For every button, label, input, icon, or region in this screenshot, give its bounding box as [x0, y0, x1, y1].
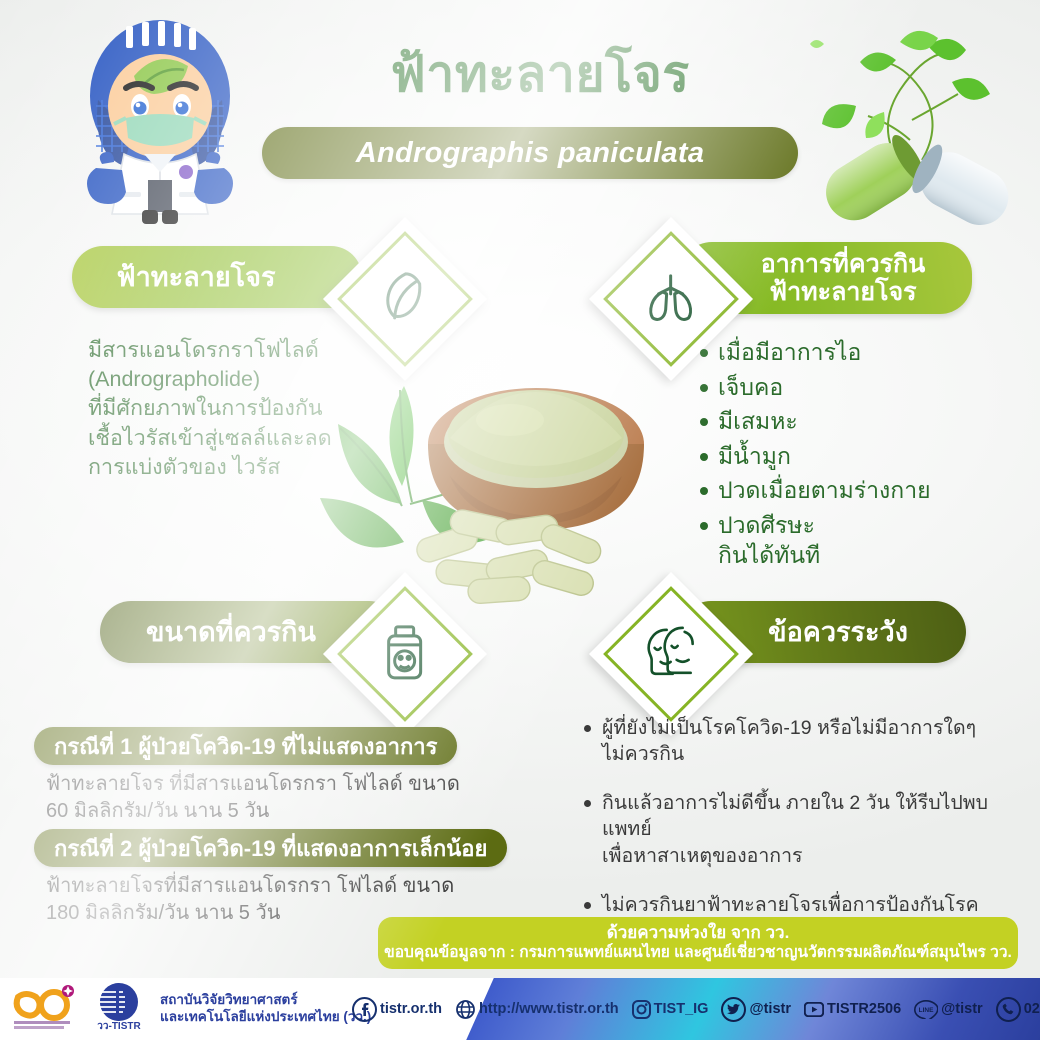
section-header-herb-label: ฟ้าทะลายโจร	[72, 262, 362, 292]
symptoms-list: เมื่อมีอาการไอ เจ็บคอ มีเสมหะ มีน้ำมูก ป…	[700, 337, 1000, 575]
footer-bar: วว-TISTR สถาบันวิจัยวิทยาศาสตร์ และเทคโน…	[0, 978, 1040, 1040]
footer-logos: วว-TISTR สถาบันวิจัยวิทยาศาสตร์ และเทคโน…	[12, 982, 371, 1036]
globe-icon	[455, 999, 476, 1020]
latin-name: Andrographis paniculata	[356, 137, 705, 170]
social-links: tistr.or.th http://www.tistr.or.th	[352, 978, 1040, 1040]
organization-name: สถาบันวิจัยวิทยาศาสตร์ และเทคโนโลยีแห่งป…	[160, 992, 371, 1026]
credit-box: ด้วยความห่วงใย จาก วว. ขอบคุณข้อมูลจาก :…	[378, 917, 1018, 969]
dosage-case-1-pill: กรณีที่ 1 ผู้ป่วยโควิด-19 ที่ไม่แสดงอากา…	[34, 727, 457, 765]
social-label-website: http://www.tistr.or.th	[479, 1001, 619, 1017]
social-link-twitter[interactable]: @tistr	[721, 997, 791, 1022]
dosage-case-2-pill: กรณีที่ 2 ผู้ป่วยโควิด-19 ที่แสดงอาการเล…	[34, 829, 507, 867]
dosage-case-1-description: ฟ้าทะลายโจร ที่มีสารแอนโดรกรา โฟไลด์ ขนา…	[46, 771, 516, 825]
line-icon: LINE	[914, 1000, 938, 1019]
social-label-twitter: @tistr	[749, 1001, 791, 1017]
social-link-website[interactable]: http://www.tistr.or.th	[455, 999, 619, 1020]
list-item: เจ็บคอ	[700, 372, 1000, 403]
social-link-youtube[interactable]: TISTR2506	[804, 1001, 901, 1017]
list-item: มีเสมหะ	[700, 406, 1000, 437]
plant-capsule-illustration	[800, 20, 1028, 230]
list-item: มีน้ำมูก	[700, 441, 1000, 472]
social-link-instagram[interactable]: TIST_IG	[632, 1000, 709, 1019]
mascot-scientist-icon	[62, 14, 258, 229]
page-title: ฟ้าทะลายโจร	[260, 48, 820, 101]
list-item: กินแล้วอาการไม่ดีขึ้น ภายใน 2 วัน ให้รีบ…	[584, 790, 1004, 868]
phone-icon	[996, 997, 1021, 1022]
social-label-instagram: TIST_IG	[654, 1001, 709, 1017]
tistr-logo-text: วว-TISTR	[97, 1021, 141, 1032]
instagram-icon	[632, 1000, 651, 1019]
anniversary-logo	[12, 983, 78, 1036]
social-link-facebook[interactable]: tistr.or.th	[352, 997, 442, 1022]
list-item: ปวดเมื่อยตามร่างกาย	[700, 475, 1000, 506]
latin-name-pill: Andrographis paniculata	[262, 127, 798, 179]
social-label-phone: 02577-9000	[1024, 1001, 1040, 1017]
section-header-herb: ฟ้าทะลายโจร	[72, 246, 362, 308]
social-link-phone[interactable]: 02577-9000	[996, 997, 1040, 1022]
list-item: เมื่อมีอาการไอ	[700, 337, 1000, 368]
tistr-logo: วว-TISTR	[88, 982, 150, 1037]
dosage-case-1-label: กรณีที่ 1 ผู้ป่วยโควิด-19 ที่ไม่แสดงอากา…	[54, 729, 437, 764]
list-item: ผู้ที่ยังไม่เป็นโรคโควิด-19 หรือไม่มีอาก…	[584, 715, 1004, 767]
credit-line-1: ด้วยความห่วงใย จาก วว.	[607, 923, 790, 944]
twitter-icon	[721, 997, 746, 1022]
youtube-icon	[804, 1002, 824, 1017]
powder-bowl-photo	[300, 372, 700, 607]
list-item: ปวดศีรษะ กินได้ทันที	[700, 510, 1000, 571]
social-label-youtube: TISTR2506	[827, 1001, 901, 1017]
svg-text:LINE: LINE	[919, 1007, 934, 1014]
facebook-icon	[352, 997, 377, 1022]
credit-line-2: ขอบคุณข้อมูลจาก : กรมการแพทย์แผนไทย และศ…	[384, 944, 1012, 963]
social-link-line[interactable]: LINE @tistr	[914, 1000, 983, 1019]
dosage-case-2-label: กรณีที่ 2 ผู้ป่วยโควิด-19 ที่แสดงอาการเล…	[54, 831, 487, 866]
infographic-poster: ฟ้าทะลายโจร Andrographis paniculata ฟ้าท…	[0, 0, 1040, 1040]
social-label-line: @tistr	[941, 1001, 983, 1017]
social-label-facebook: tistr.or.th	[380, 1001, 442, 1017]
